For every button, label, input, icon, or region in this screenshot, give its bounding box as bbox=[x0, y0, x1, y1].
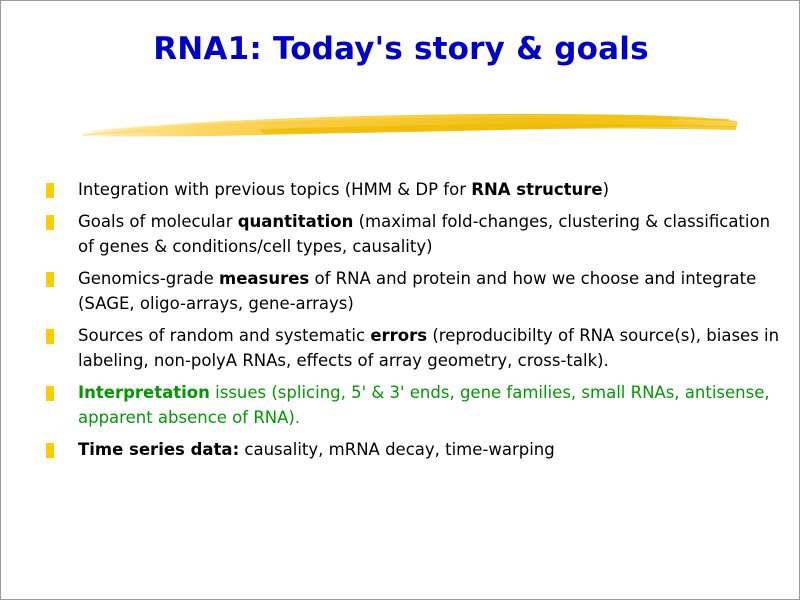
slide-canvas: RNA1: Today's story & goals bbox=[0, 0, 800, 600]
bullet-4-run-1: errors bbox=[370, 326, 427, 345]
bullet-6-run-1: causality, mRNA decay, time-warping bbox=[239, 440, 555, 459]
bullet-1-run-2: ) bbox=[603, 180, 609, 199]
yellow-square-bullet-icon bbox=[46, 443, 54, 458]
bullet-5-run-1: Interpretation bbox=[78, 383, 210, 402]
yellow-square-bullet-icon bbox=[46, 386, 54, 401]
list-item: Interpretation issues (splicing, 5' & 3'… bbox=[41, 380, 781, 431]
bullet-1-text: Integration with previous topics (HMM & … bbox=[78, 177, 781, 203]
bullet-3-run-1: measures bbox=[219, 269, 309, 288]
list-item: Goals of molecular quantitation (maximal… bbox=[41, 209, 781, 260]
bullet-2-text: Goals of molecular quantitation (maximal… bbox=[78, 209, 781, 260]
list-item: Genomics-grade measures of RNA and prote… bbox=[41, 266, 781, 317]
list-item: Sources of random and systematic errors … bbox=[41, 323, 781, 374]
bullet-5-text: Interpretation issues (splicing, 5' & 3'… bbox=[78, 380, 781, 431]
yellow-square-bullet-icon bbox=[46, 183, 54, 198]
list-item: Integration with previous topics (HMM & … bbox=[41, 177, 781, 203]
list-item: Time series data: causality, mRNA decay,… bbox=[41, 437, 781, 463]
bullet-4-text: Sources of random and systematic errors … bbox=[78, 323, 781, 374]
bullet-2-run-0: Goals of molecular bbox=[78, 212, 238, 231]
slide-title: RNA1: Today's story & goals bbox=[1, 31, 800, 67]
bullet-4-run-0: Sources of random and systematic bbox=[78, 326, 370, 345]
yellow-brushstroke-divider bbox=[79, 105, 739, 143]
brushstroke-svg bbox=[79, 105, 739, 143]
bullet-list: Integration with previous topics (HMM & … bbox=[41, 177, 781, 462]
yellow-square-bullet-icon bbox=[46, 329, 54, 344]
yellow-square-bullet-icon bbox=[46, 215, 54, 230]
bullet-3-run-0: Genomics-grade bbox=[78, 269, 219, 288]
bullet-2-run-1: quantitation bbox=[238, 212, 354, 231]
bullet-1-run-0: Integration with previous topics (HMM & … bbox=[78, 180, 471, 199]
bullet-6-text: Time series data: causality, mRNA decay,… bbox=[78, 437, 781, 463]
bullet-3-text: Genomics-grade measures of RNA and prote… bbox=[78, 266, 781, 317]
bullet-1-run-1: RNA structure bbox=[471, 180, 602, 199]
bullet-6-run-0: Time series data: bbox=[78, 440, 239, 459]
yellow-square-bullet-icon bbox=[46, 272, 54, 287]
